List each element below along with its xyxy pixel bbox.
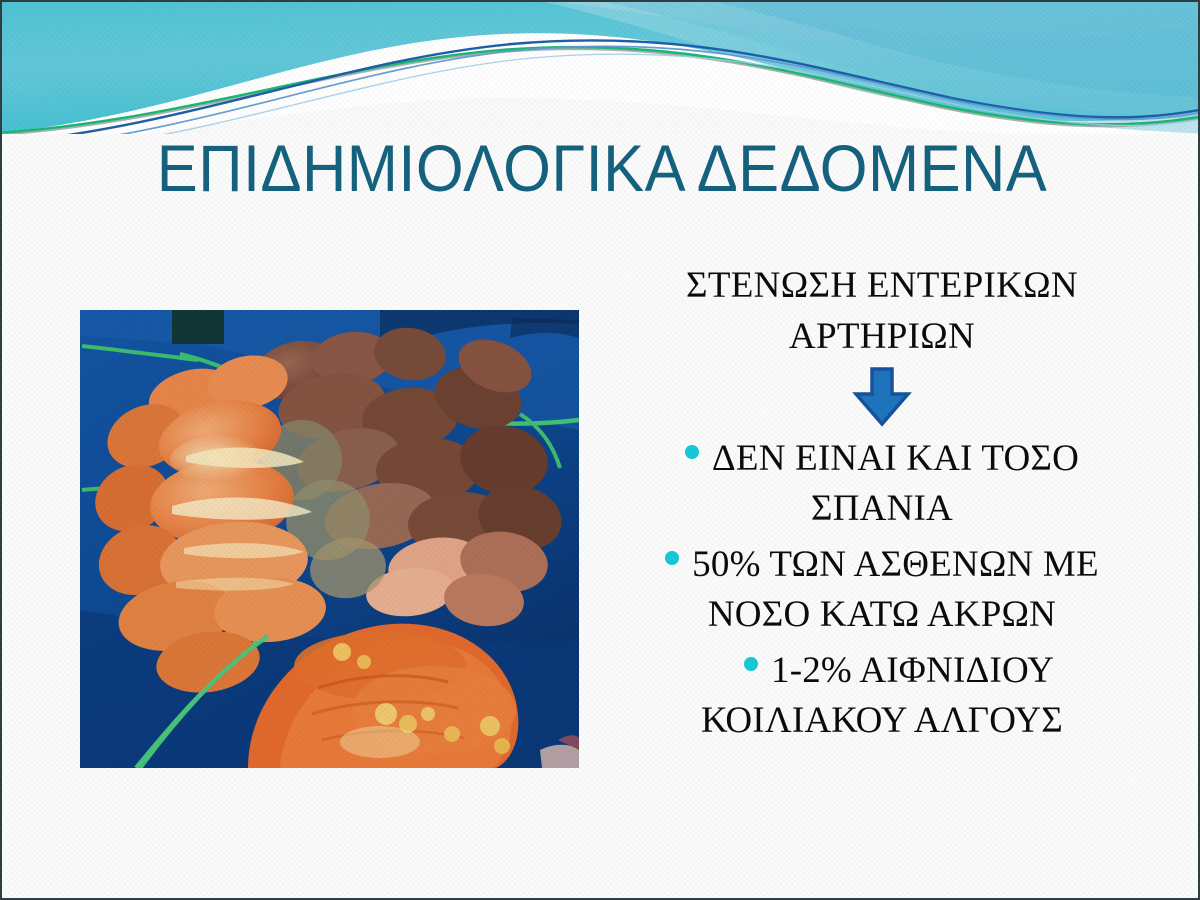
bullet-dot-icon bbox=[665, 551, 679, 565]
header-wave-decoration bbox=[2, 2, 1200, 134]
presentation-slide: ΕΠΙΔΗΜΙΟΛΟΓΙΚΑ ΔΕΔΟΜΕΝΑ bbox=[0, 0, 1200, 900]
bullet-text-line-1: 50% ΤΩΝ ΑΣΘΕΝΩΝ ΜΕ bbox=[692, 544, 1099, 585]
bullet-text-line-1: ΔΕΝ ΕΙΝΑΙ ΚΑΙ ΤΟΣΟ bbox=[712, 438, 1079, 479]
down-arrow bbox=[602, 366, 1162, 428]
list-item: 1-2% ΑΙΦΝΙΔΙΟΥ ΚΟΙΛΙΑΚΟΥ ΑΛΓΟΥΣ bbox=[602, 646, 1162, 746]
down-arrow-icon bbox=[850, 366, 914, 428]
photo-content bbox=[80, 310, 579, 768]
bullet-text-line-2: ΣΠΑΝΙΑ bbox=[602, 484, 1162, 534]
bullet-list: ΔΕΝ ΕΙΝΑΙ ΚΑΙ ΤΟΣΟ ΣΠΑΝΙΑ 50% ΤΩΝ ΑΣΘΕΝΩ… bbox=[602, 434, 1162, 746]
list-item: ΔΕΝ ΕΙΝΑΙ ΚΑΙ ΤΟΣΟ ΣΠΑΝΙΑ bbox=[602, 434, 1162, 534]
bullet-dot-icon bbox=[685, 445, 699, 459]
bullet-text-line-2: ΚΟΙΛΙΑΚΟΥ ΑΛΓΟΥΣ bbox=[602, 696, 1162, 746]
wave-graphic bbox=[2, 2, 1200, 134]
slide-body-text: ΣΤΕΝΩΣΗ ΕΝΤΕΡΙΚΩΝ ΑΡΤΗΡΙΩΝ ΔΕΝ ΕΙΝΑΙ ΚΑΙ… bbox=[602, 260, 1162, 752]
bullet-text-line-1: 1-2% ΑΙΦΝΙΔΙΟΥ bbox=[771, 650, 1054, 691]
bullet-dot-icon bbox=[744, 657, 758, 671]
slide-title: ΕΠΙΔΗΜΙΟΛΟΓΙΚΑ ΔΕΔΟΜΕΝΑ bbox=[44, 128, 1160, 208]
list-item: 50% ΤΩΝ ΑΣΘΕΝΩΝ ΜΕ ΝΟΣΟ ΚΑΤΩ ΑΚΡΩΝ bbox=[602, 540, 1162, 640]
intraoperative-bowel-photograph bbox=[80, 310, 579, 768]
heading-line-1: ΣΤΕΝΩΣΗ ΕΝΤΕΡΙΚΩΝ bbox=[602, 260, 1162, 311]
bullet-text-line-2: ΝΟΣΟ ΚΑΤΩ ΑΚΡΩΝ bbox=[602, 590, 1162, 640]
heading-line-2: ΑΡΤΗΡΙΩΝ bbox=[602, 311, 1162, 362]
